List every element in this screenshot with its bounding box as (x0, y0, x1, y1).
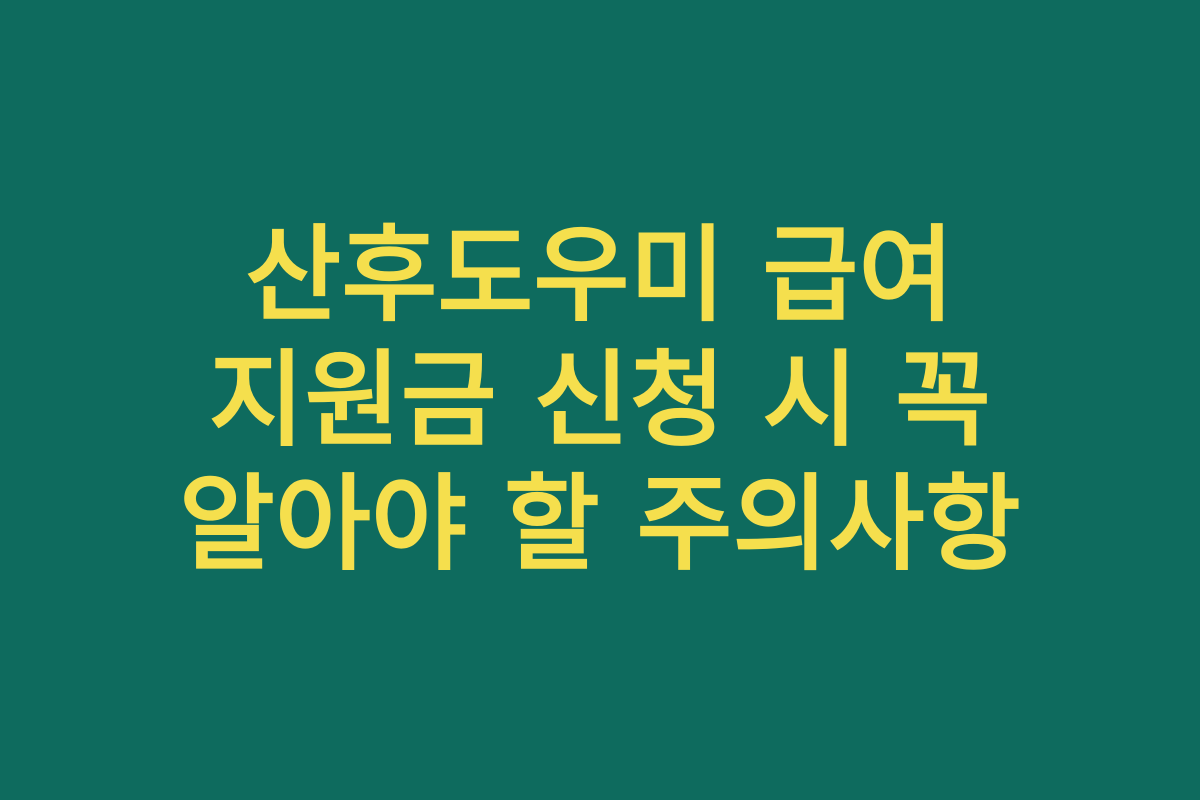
page-title: 산후도우미 급여 지원금 신청 시 꼭 알아야 할 주의사항 (89, 213, 1111, 587)
title-block: 산후도우미 급여 지원금 신청 시 꼭 알아야 할 주의사항 (85, 213, 1115, 587)
title-card-banner: 산후도우미 급여 지원금 신청 시 꼭 알아야 할 주의사항 (0, 0, 1200, 800)
